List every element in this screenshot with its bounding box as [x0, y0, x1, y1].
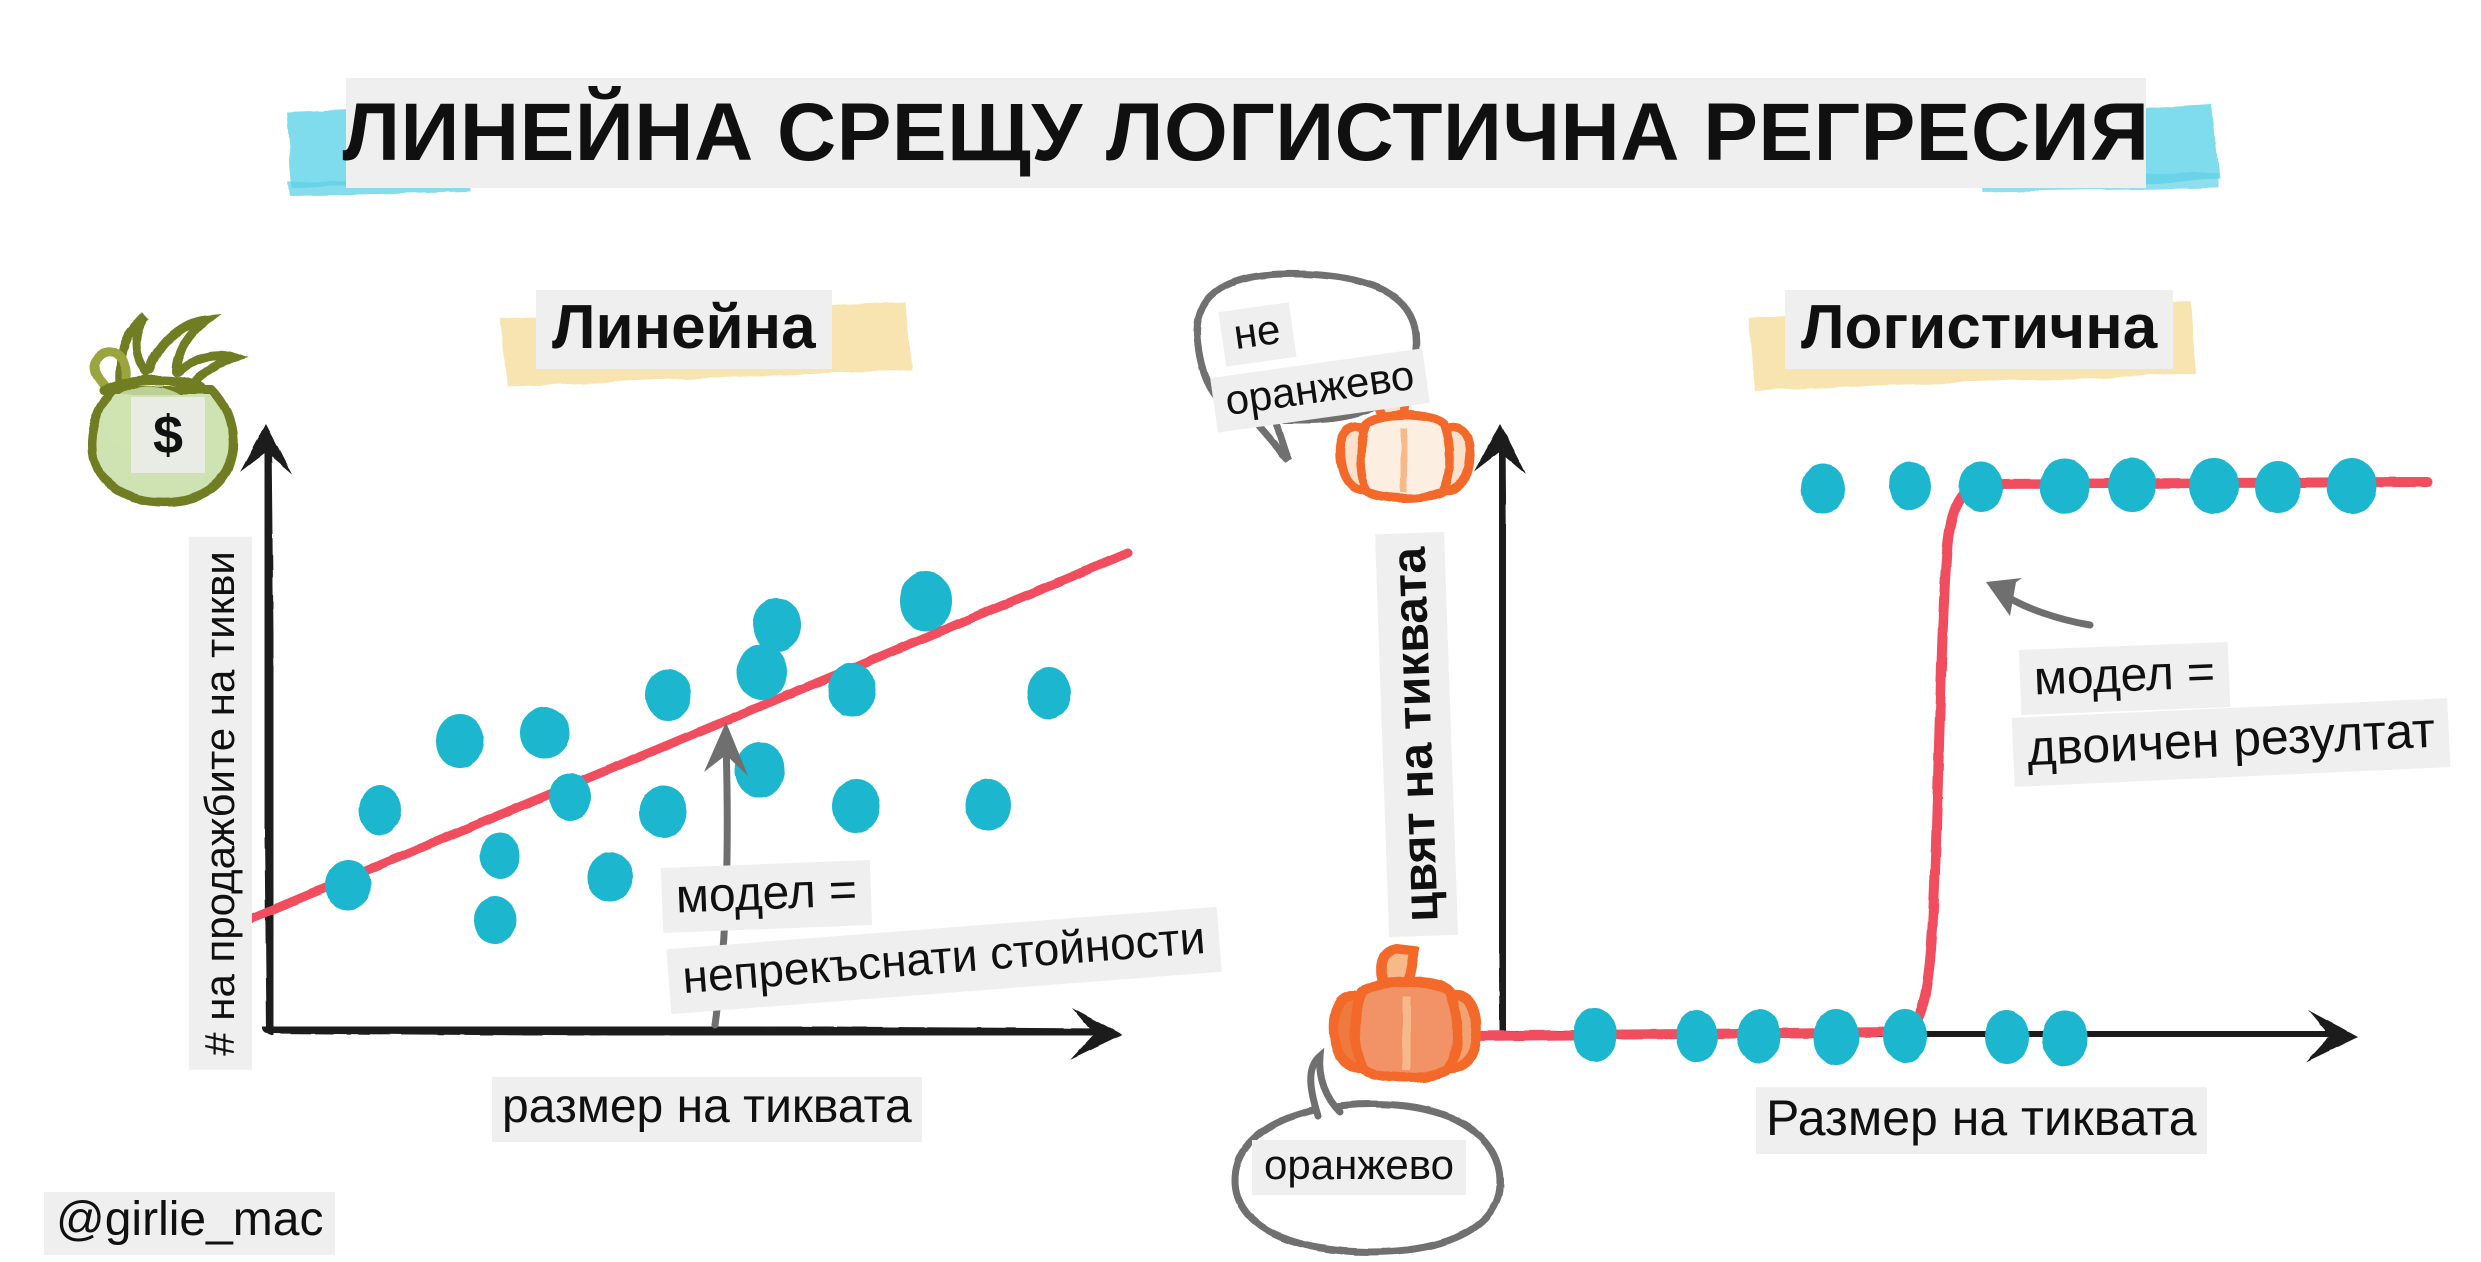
- bubble-not-orange-line-1: не: [1219, 302, 1297, 366]
- logistic-points-class-zero: [1573, 1008, 2088, 1066]
- logistic-points-class-one: [1801, 458, 2377, 514]
- linear-section-heading: Линейна: [536, 290, 832, 369]
- logistic-section-heading: Логистична: [1785, 290, 2173, 369]
- illustration-layer: [0, 0, 2481, 1262]
- page-title: ЛИНЕЙНА СРЕЩУ ЛОГИСТИЧНА РЕГРЕСИЯ: [346, 78, 2146, 188]
- linear-y-axis-label: # на продажбите на тикви: [189, 537, 252, 1070]
- infographic-canvas: ЛИНЕЙНА СРЕЩУ ЛОГИСТИЧНА РЕГРЕСИЯ Линейн…: [0, 0, 2481, 1262]
- bubble-orange-label: оранжево: [1252, 1140, 1466, 1195]
- logistic-x-axis-label: Размер на тиквата: [1756, 1087, 2207, 1154]
- logistic-annotation-line-1: модел =: [2019, 642, 2230, 715]
- linear-x-axis-label: размер на тиквата: [492, 1077, 922, 1142]
- logistic-y-axis-label: цвят на тиквата: [1375, 532, 1458, 937]
- orange-pumpkin-icon: [1334, 950, 1477, 1078]
- linear-annotation-line-1: модел =: [661, 860, 872, 933]
- logistic-annotation-arrow: [1986, 578, 2090, 625]
- money-bag-dollar-tag: $: [131, 397, 205, 473]
- author-handle: @girlie_mac: [44, 1192, 335, 1255]
